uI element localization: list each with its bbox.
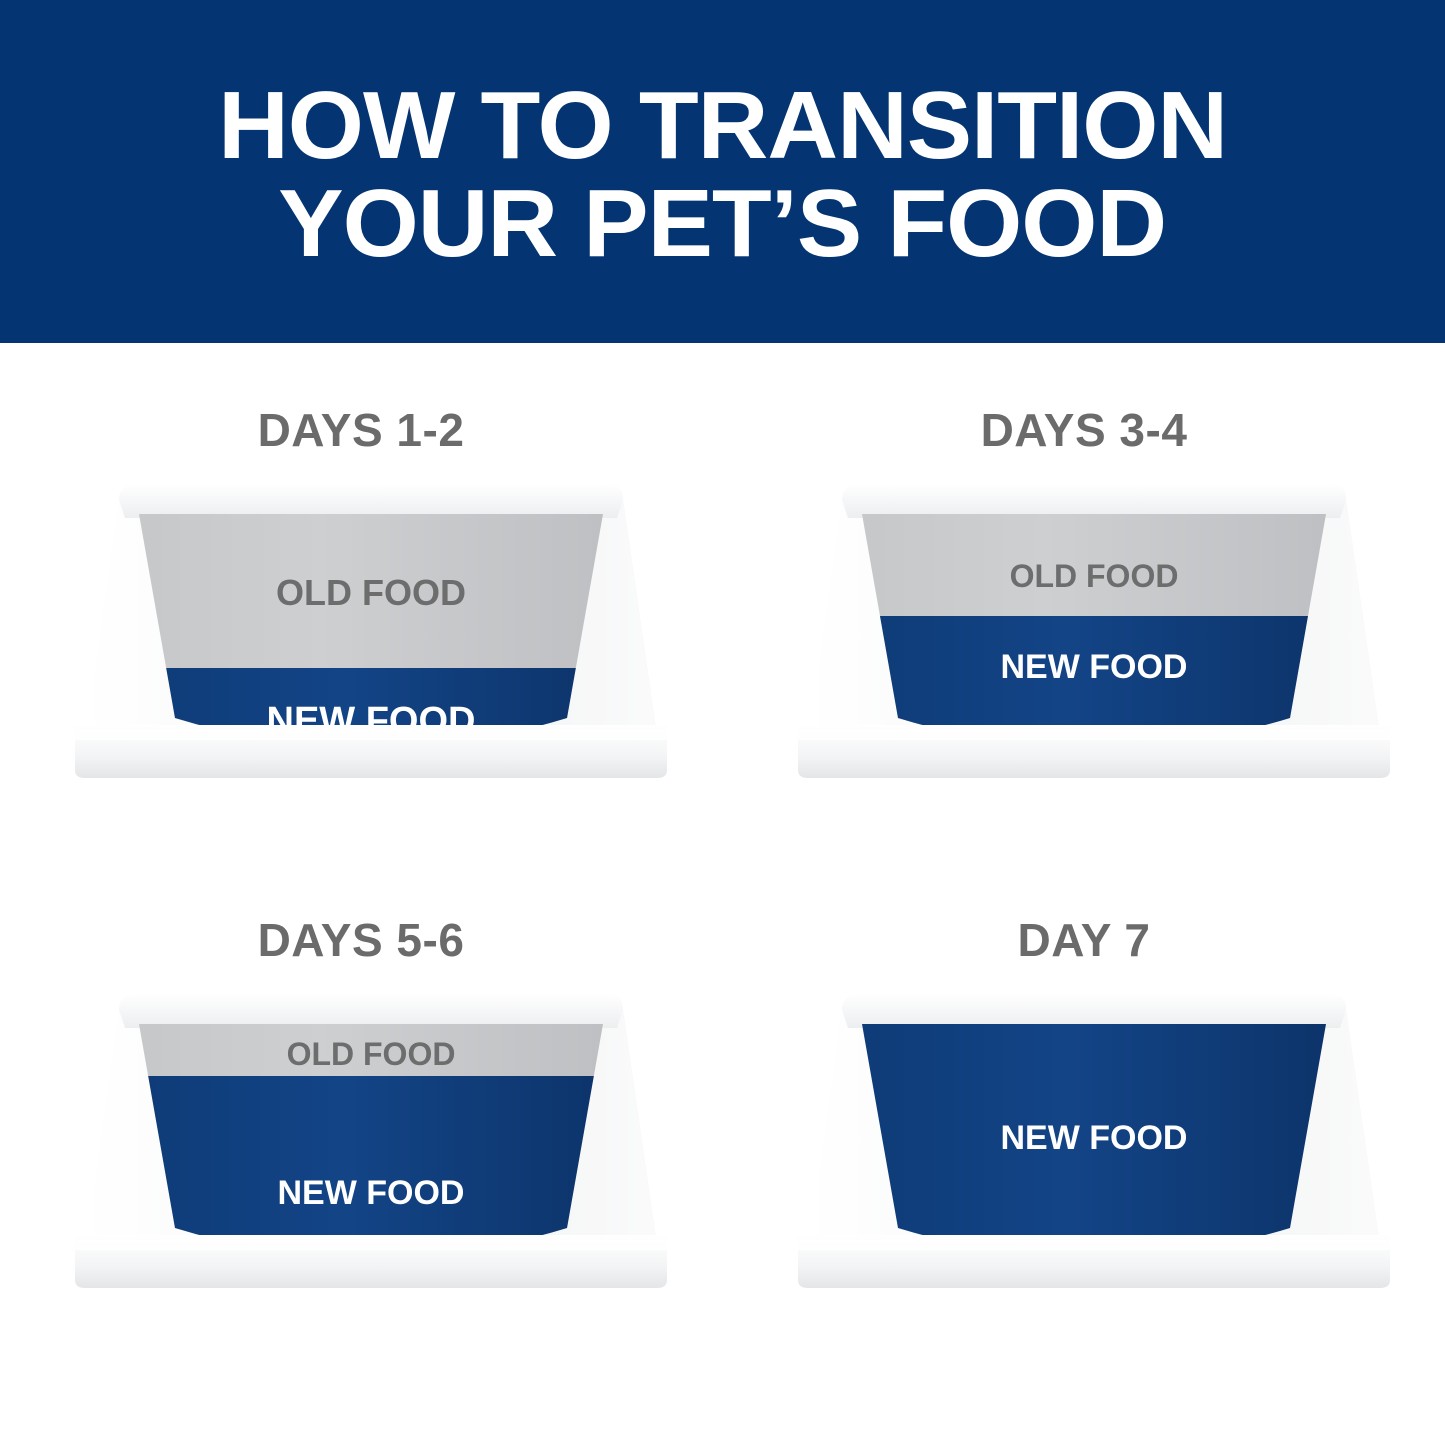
- bowl-graphic-4: [784, 988, 1404, 1303]
- pet-food-bowl-1: OLD FOOD NEW FOOD: [61, 478, 681, 793]
- pet-food-bowl-3: OLD FOOD NEW FOOD: [61, 988, 681, 1303]
- page-title-line-1: HOW TO TRANSITION: [218, 77, 1227, 175]
- step-day-label-1: DAYS 1-2: [0, 403, 722, 457]
- transition-step-card-4: DAY 7: [723, 853, 1445, 1404]
- step-day-label-4: DAY 7: [723, 913, 1445, 967]
- transition-step-card-3: DAYS 5-6: [0, 853, 722, 1404]
- bowl-graphic-2: [784, 478, 1404, 793]
- bowl-graphic-3: [61, 988, 681, 1303]
- transition-steps-grid: DAYS 1-2: [0, 343, 1445, 1445]
- bowl-graphic-1: [61, 478, 681, 793]
- transition-step-card-2: DAYS 3-4: [723, 343, 1445, 894]
- pet-food-bowl-4: NEW FOOD: [784, 988, 1404, 1303]
- step-day-label-3: DAYS 5-6: [0, 913, 722, 967]
- step-day-label-2: DAYS 3-4: [723, 403, 1445, 457]
- header-banner: HOW TO TRANSITION YOUR PET’S FOOD: [0, 0, 1445, 343]
- page-title-line-2: YOUR PET’S FOOD: [279, 175, 1167, 273]
- pet-food-bowl-2: OLD FOOD NEW FOOD: [784, 478, 1404, 793]
- transition-step-card-1: DAYS 1-2: [0, 343, 722, 894]
